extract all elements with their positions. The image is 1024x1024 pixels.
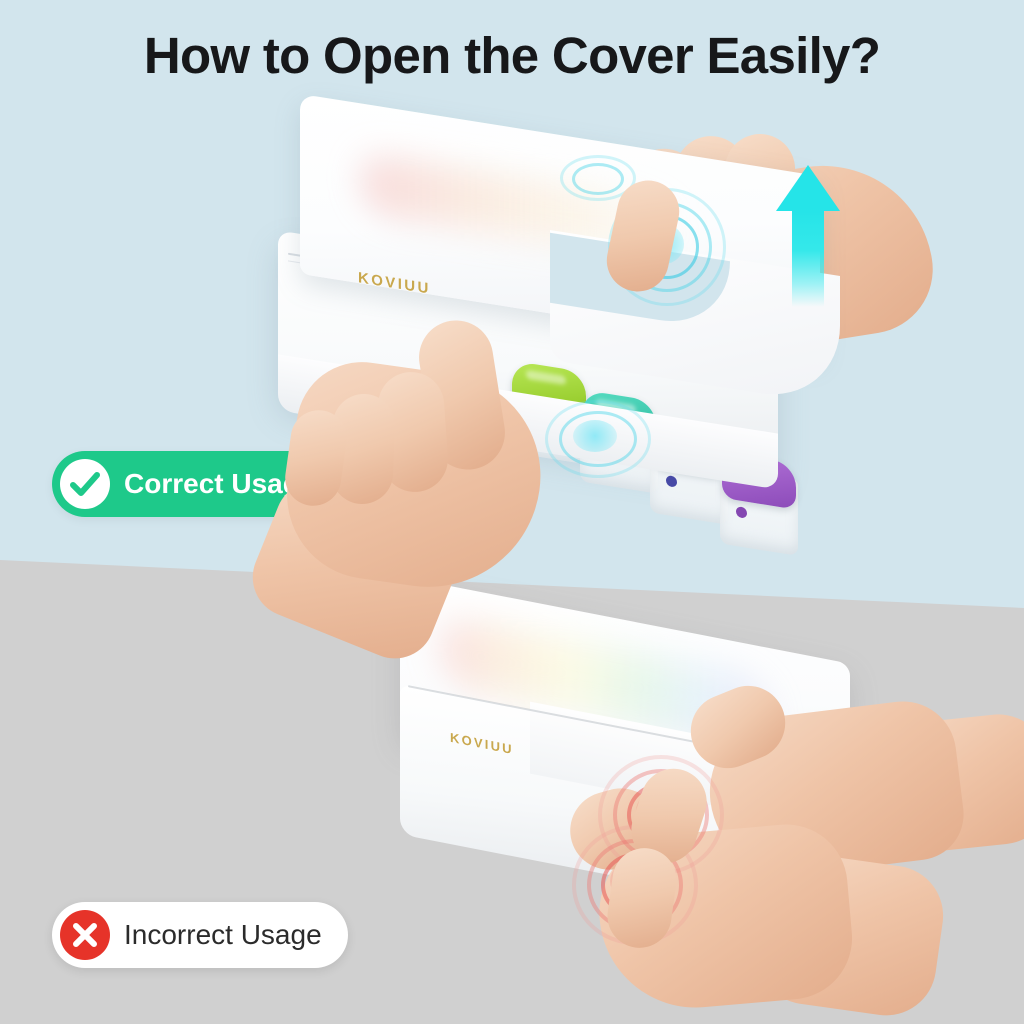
incorrect-usage-badge[interactable]: Incorrect Usage [52,902,348,968]
cross-circle-icon [60,910,110,960]
page-title: How to Open the Cover Easily? [0,26,1024,85]
tray-touch-ripple [545,400,655,490]
arrow-shaft [792,209,824,307]
infographic-canvas: How to Open the Cover Easily? [0,0,1024,1024]
check-circle-icon [60,459,110,509]
arrow-head [776,165,840,211]
incorrect-usage-label: Incorrect Usage [124,919,322,951]
ripple-ring-flat [572,163,624,195]
upward-arrow-icon [768,165,848,305]
ripple-core [573,420,617,452]
